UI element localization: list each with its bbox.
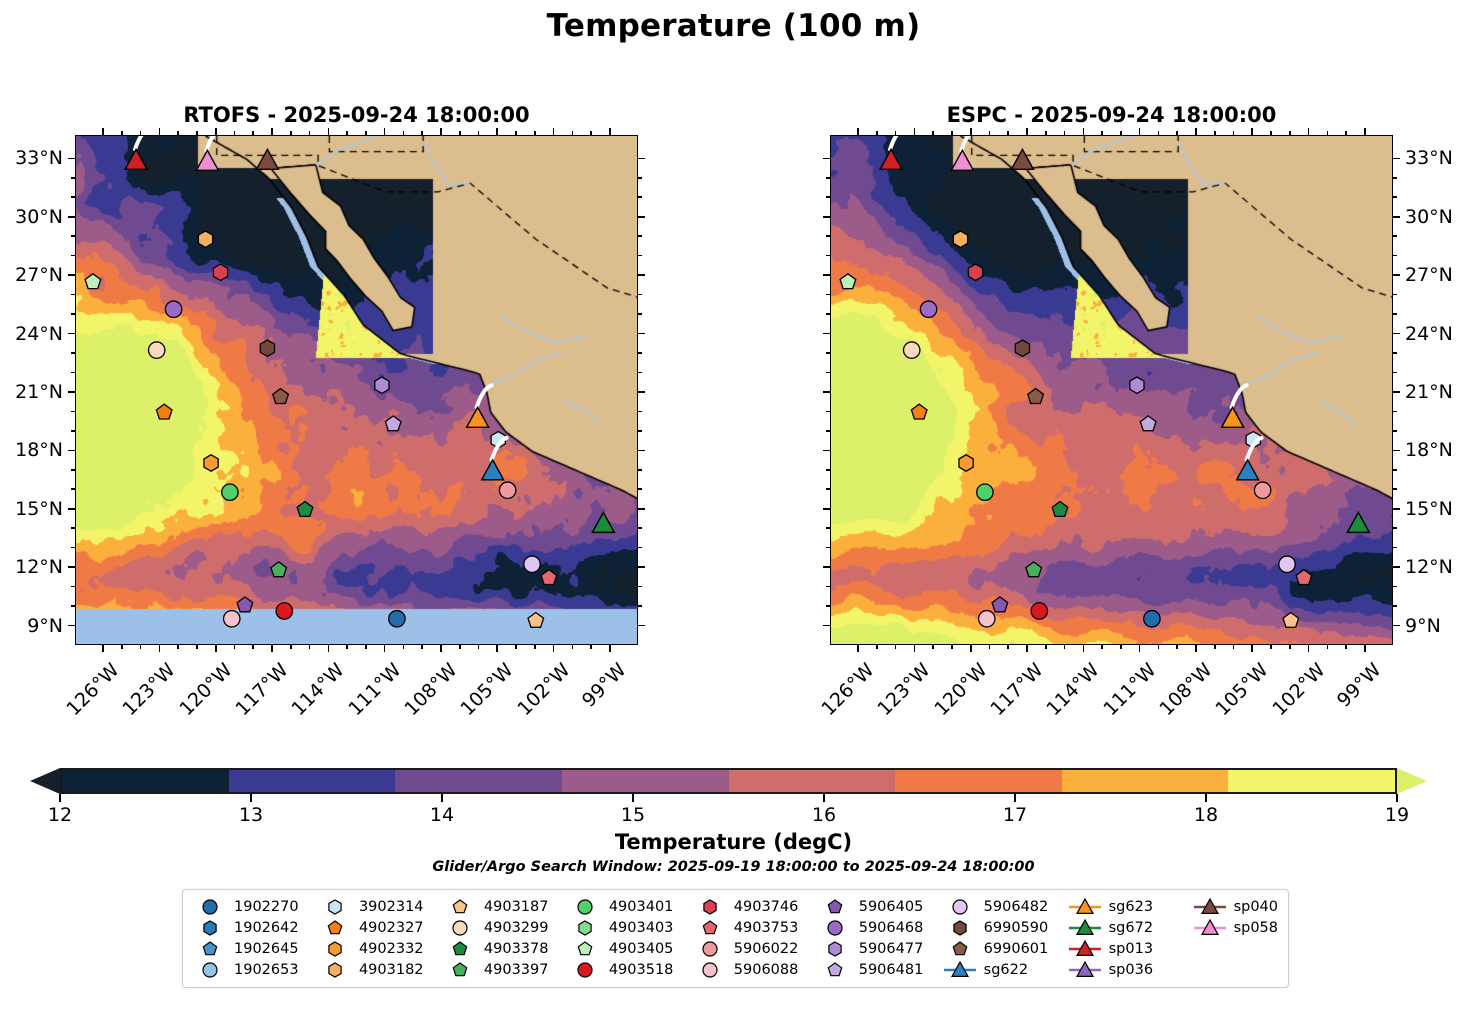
ytick-major-right xyxy=(1393,274,1400,276)
platform-marker-5906468[interactable] xyxy=(165,301,181,317)
platform-marker-6990601[interactable] xyxy=(273,389,289,404)
platform-marker-4903753[interactable] xyxy=(1296,570,1312,585)
ytick-label-left: 27°N xyxy=(5,264,63,286)
legend-swatch xyxy=(443,939,477,959)
xtick-minor xyxy=(1101,645,1103,649)
ytick-minor-right xyxy=(638,294,642,296)
legend-entry-sg622[interactable]: sg622 xyxy=(943,959,1068,980)
ytick-minor-left xyxy=(71,352,75,354)
legend-entry-4903403[interactable]: 4903403 xyxy=(568,918,693,939)
legend-entry-sp036[interactable]: sp036 xyxy=(1068,959,1193,980)
ytick-major-right xyxy=(638,566,645,568)
legend-label: 4903187 xyxy=(484,899,549,915)
xtick-minor-top xyxy=(1101,131,1103,135)
legend-label: 4903518 xyxy=(609,962,674,978)
platform-marker-6990590[interactable] xyxy=(1015,340,1029,356)
xtick-major xyxy=(384,645,386,652)
ytick-major-right xyxy=(1393,450,1400,452)
legend-entry-4903753[interactable]: 4903753 xyxy=(693,918,818,939)
ytick-label-right: 18°N xyxy=(1405,439,1467,461)
legend-entry-sp040[interactable]: sp040 xyxy=(1193,897,1278,918)
xtick-major xyxy=(970,645,972,652)
xtick-major-top xyxy=(328,128,330,135)
legend-swatch xyxy=(568,939,602,959)
colorbar-tick xyxy=(632,794,633,802)
legend-marker-4903753 xyxy=(693,918,727,938)
xtick-major xyxy=(496,645,498,652)
xtick-minor-top xyxy=(1345,131,1347,135)
platform-marker-5906088[interactable] xyxy=(224,611,240,627)
xtick-major xyxy=(1364,645,1366,652)
xtick-minor xyxy=(515,645,517,649)
legend-swatch xyxy=(193,960,227,980)
ytick-minor-right xyxy=(1393,411,1397,413)
xtick-minor xyxy=(1233,645,1235,649)
legend-swatch xyxy=(443,918,477,938)
legend-entry-4903378[interactable]: 4903378 xyxy=(443,939,568,960)
legend-label: sp058 xyxy=(1234,920,1278,936)
platform-marker-5906477[interactable] xyxy=(375,377,389,393)
ytick-label-left: 30°N xyxy=(5,206,63,228)
ytick-minor-right xyxy=(638,469,642,471)
legend-entry-4903518[interactable]: 4903518 xyxy=(568,959,693,980)
legend-entry-1902270[interactable]: 1902270 xyxy=(193,897,318,918)
xtick-minor-top xyxy=(989,131,991,135)
ytick-minor-right xyxy=(638,411,642,413)
legend-entry-4902327[interactable]: 4902327 xyxy=(318,918,443,939)
legend-label: 5906022 xyxy=(734,941,799,957)
xtick-minor-top xyxy=(932,131,934,135)
platform-marker-sg623[interactable] xyxy=(1222,385,1247,427)
legend-marker-5906481 xyxy=(818,960,852,980)
legend-marker-sp040 xyxy=(1193,897,1227,917)
platform-marker-5906481[interactable] xyxy=(1140,416,1156,431)
legend-marker-4903405 xyxy=(568,939,602,959)
xtick-minor-top xyxy=(1007,131,1009,135)
xtick-label: 120°W xyxy=(930,659,991,720)
ytick-minor-left xyxy=(71,372,75,374)
xtick-minor-top xyxy=(1045,131,1047,135)
colorbar-tick-label: 15 xyxy=(621,804,645,826)
ytick-major-left xyxy=(68,216,75,218)
platform-marker-5906022[interactable] xyxy=(499,482,515,498)
platform-marker-sp040[interactable] xyxy=(256,149,278,169)
platform-marker-4903299[interactable] xyxy=(148,342,164,358)
xtick-major-top xyxy=(553,128,555,135)
ytick-minor-left xyxy=(826,547,830,549)
legend-marker-4903401 xyxy=(568,897,602,917)
ytick-major-right xyxy=(638,274,645,276)
ytick-major-left xyxy=(823,508,830,510)
legend-swatch xyxy=(193,918,227,938)
ytick-minor-left xyxy=(826,469,830,471)
ytick-minor-left xyxy=(71,235,75,237)
ytick-minor-left xyxy=(826,177,830,179)
platform-marker-4903746[interactable] xyxy=(968,264,982,280)
legend-entry-6990601[interactable]: 6990601 xyxy=(943,939,1068,960)
legend-marker-sp058 xyxy=(1193,918,1227,938)
ytick-major-left xyxy=(68,625,75,627)
xtick-minor-top xyxy=(140,131,142,135)
legend-label: 6990601 xyxy=(984,941,1049,957)
colorbar-segment-3 xyxy=(562,770,729,792)
legend-marker-1902645 xyxy=(193,939,227,959)
legend-swatch xyxy=(568,897,602,917)
ytick-label-left: 9°N xyxy=(5,615,63,637)
colorbar-gradient xyxy=(60,768,1397,794)
platform-marker-5906405[interactable] xyxy=(992,597,1008,612)
legend-entry-sg672[interactable]: sg672 xyxy=(1068,918,1193,939)
legend-entry-5906481[interactable]: 5906481 xyxy=(818,959,943,980)
ytick-minor-left xyxy=(826,605,830,607)
xtick-label: 120°W xyxy=(175,659,236,720)
xtick-label: 108°W xyxy=(400,659,461,720)
ytick-minor-right xyxy=(1393,294,1397,296)
ytick-minor-right xyxy=(1393,196,1397,198)
ytick-minor-right xyxy=(638,605,642,607)
ytick-major-left xyxy=(823,274,830,276)
legend-swatch xyxy=(443,960,477,980)
ytick-major-left xyxy=(823,216,830,218)
xtick-label: 114°W xyxy=(288,659,349,720)
legend-entry-4903299[interactable]: 4903299 xyxy=(443,918,568,939)
xtick-minor-top xyxy=(234,131,236,135)
xtick-major xyxy=(440,645,442,652)
ytick-label-right: 24°N xyxy=(1405,323,1467,345)
platform-marker-4903405[interactable] xyxy=(840,274,856,289)
platform-marker-4903753[interactable] xyxy=(541,570,557,585)
xtick-minor xyxy=(1120,645,1122,649)
ytick-major-left xyxy=(823,450,830,452)
ytick-major-right xyxy=(638,625,645,627)
xtick-major xyxy=(609,645,611,652)
ytick-minor-right xyxy=(638,255,642,257)
xtick-minor xyxy=(590,645,592,649)
legend-marker-4902327 xyxy=(318,918,352,938)
ytick-major-right xyxy=(1393,508,1400,510)
legend-swatch xyxy=(1193,918,1227,938)
colorbar-tick xyxy=(1396,794,1397,802)
xtick-minor xyxy=(932,645,934,649)
legend-marker-4903746 xyxy=(693,897,727,917)
xtick-minor-top xyxy=(346,131,348,135)
ytick-minor-right xyxy=(638,352,642,354)
platform-marker-sg672[interactable] xyxy=(1347,512,1369,532)
platform-marker-4903405[interactable] xyxy=(85,274,101,289)
legend-entry-4903401[interactable]: 4903401 xyxy=(568,897,693,918)
ytick-minor-left xyxy=(826,527,830,529)
ytick-major-right xyxy=(1393,216,1400,218)
ytick-minor-right xyxy=(1393,488,1397,490)
legend-swatch xyxy=(818,939,852,959)
xtick-major-top xyxy=(271,128,273,135)
ytick-minor-left xyxy=(826,235,830,237)
search-window-note: Glider/Argo Search Window: 2025-09-19 18… xyxy=(0,859,1467,875)
legend-entry-6990590[interactable]: 6990590 xyxy=(943,918,1068,939)
colorbar-tick-label: 14 xyxy=(430,804,454,826)
ytick-label-left: 12°N xyxy=(5,556,63,578)
colorbar-tick xyxy=(1205,794,1206,802)
xtick-minor-top xyxy=(177,131,179,135)
platform-marker-5906022[interactable] xyxy=(1254,482,1270,498)
legend-swatch xyxy=(943,897,977,917)
ytick-minor-left xyxy=(826,255,830,257)
legend-entry-4903187[interactable]: 4903187 xyxy=(443,897,568,918)
xtick-minor-top xyxy=(951,131,953,135)
platform-marker-4903518[interactable] xyxy=(276,603,292,619)
legend-swatch xyxy=(1068,918,1102,938)
legend-label: 5906477 xyxy=(859,941,924,957)
ytick-minor-left xyxy=(826,488,830,490)
xtick-minor-top xyxy=(590,131,592,135)
ytick-major-left xyxy=(68,566,75,568)
legend-marker-sg622 xyxy=(943,960,977,980)
legend-swatch xyxy=(818,918,852,938)
ytick-minor-left xyxy=(71,605,75,607)
xtick-minor xyxy=(478,645,480,649)
platform-marker-4903378[interactable] xyxy=(1052,502,1068,517)
platform-marker-4903299[interactable] xyxy=(903,342,919,358)
colorbar-tick-label: 16 xyxy=(812,804,836,826)
legend-swatch xyxy=(318,939,352,959)
legend-entry-4902332[interactable]: 4902332 xyxy=(318,939,443,960)
legend-label: 5906088 xyxy=(734,962,799,978)
ytick-minor-right xyxy=(638,313,642,315)
platform-marker-5906405[interactable] xyxy=(237,597,253,612)
xtick-minor xyxy=(572,645,574,649)
ytick-major-left xyxy=(823,391,830,393)
ytick-minor-left xyxy=(71,177,75,179)
platform-marker-4902332[interactable] xyxy=(204,455,218,471)
legend-marker-4903397 xyxy=(443,960,477,980)
legend-label: 4903401 xyxy=(609,899,674,915)
platform-marker-5906468[interactable] xyxy=(920,301,936,317)
ytick-major-right xyxy=(638,216,645,218)
legend-entry-sg623[interactable]: sg623 xyxy=(1068,897,1193,918)
legend-entry-4903182[interactable]: 4903182 xyxy=(318,959,443,980)
platform-marker-6990590[interactable] xyxy=(260,340,274,356)
legend-entry-1902642[interactable]: 1902642 xyxy=(193,918,318,939)
xtick-minor-top xyxy=(365,131,367,135)
legend-entry-1902653[interactable]: 1902653 xyxy=(193,959,318,980)
xtick-major-top xyxy=(440,128,442,135)
xtick-major-top xyxy=(609,128,611,135)
legend-label: sg672 xyxy=(1109,920,1153,936)
legend-marker-3902314 xyxy=(318,897,352,917)
colorbar-tick xyxy=(1014,794,1015,802)
ytick-label-right: 12°N xyxy=(1405,556,1467,578)
colorbar-tick-label: 17 xyxy=(1003,804,1027,826)
xtick-minor-top xyxy=(1270,131,1272,135)
legend-marker-6990590 xyxy=(943,918,977,938)
legend-marker-4903187 xyxy=(443,897,477,917)
platform-marker-sp013[interactable] xyxy=(880,135,905,169)
legend-swatch xyxy=(818,960,852,980)
legend-label: 4903746 xyxy=(734,899,799,915)
xtick-major-top xyxy=(1195,128,1197,135)
xtick-major-top xyxy=(1308,128,1310,135)
colorbar-extend-max xyxy=(1397,768,1427,794)
xtick-major xyxy=(1251,645,1253,652)
xtick-minor-top xyxy=(1327,131,1329,135)
platform-marker-sp058[interactable] xyxy=(951,135,976,170)
legend-marker-4903403 xyxy=(568,918,602,938)
legend-label: 4903397 xyxy=(484,962,549,978)
xtick-label: 102°W xyxy=(1268,659,1329,720)
platform-marker-sg623[interactable] xyxy=(467,385,492,427)
legend-entry-4903397[interactable]: 4903397 xyxy=(443,959,568,980)
platform-marker-sp040[interactable] xyxy=(1011,149,1033,169)
platform-marker-5906477[interactable] xyxy=(1130,377,1144,393)
xtick-major-top xyxy=(1083,128,1085,135)
ytick-minor-left xyxy=(71,411,75,413)
legend-entry-4903746[interactable]: 4903746 xyxy=(693,897,818,918)
ytick-minor-left xyxy=(71,313,75,315)
xtick-minor xyxy=(1214,645,1216,649)
xtick-minor xyxy=(534,645,536,649)
colorbar[interactable]: 1213141516171819 Temperature (degC) Glid… xyxy=(0,760,1467,870)
platform-marker-4903401[interactable] xyxy=(977,484,993,500)
xtick-major-top xyxy=(1026,128,1028,135)
ytick-major-right xyxy=(638,450,645,452)
xtick-major xyxy=(1195,645,1197,652)
ytick-major-left xyxy=(68,508,75,510)
platform-marker-4903401[interactable] xyxy=(222,484,238,500)
platform-marker-5906482[interactable] xyxy=(524,556,540,572)
platform-marker-5906088[interactable] xyxy=(979,611,995,627)
legend-entry-5906088[interactable]: 5906088 xyxy=(693,959,818,980)
legend-entry-4903405[interactable]: 4903405 xyxy=(568,939,693,960)
colorbar-segment-0 xyxy=(62,770,229,792)
ytick-major-right xyxy=(638,508,645,510)
platform-marker-4902332[interactable] xyxy=(959,455,973,471)
legend-entry-5906468[interactable]: 5906468 xyxy=(818,918,943,939)
ytick-major-left xyxy=(823,566,830,568)
platform-marker-5906481[interactable] xyxy=(385,416,401,431)
xtick-major-top xyxy=(857,128,859,135)
legend-entry-sp058[interactable]: sp058 xyxy=(1193,918,1278,939)
platform-marker-4903378[interactable] xyxy=(297,502,313,517)
platform-marker-1902270[interactable] xyxy=(1144,611,1160,627)
ytick-minor-right xyxy=(638,196,642,198)
legend-label: 4903753 xyxy=(734,920,799,936)
legend-label: 4903378 xyxy=(484,941,549,957)
legend-swatch xyxy=(318,918,352,938)
xtick-minor-top xyxy=(309,131,311,135)
legend-marker-5906477 xyxy=(818,939,852,959)
xtick-label: 117°W xyxy=(986,659,1047,720)
platform-marker-4903187[interactable] xyxy=(1283,613,1299,628)
xtick-minor xyxy=(1327,645,1329,649)
platform-marker-4903746[interactable] xyxy=(213,264,227,280)
ytick-minor-right xyxy=(638,488,642,490)
ytick-minor-right xyxy=(1393,313,1397,315)
xtick-major-top xyxy=(215,128,217,135)
legend-entry-5906022[interactable]: 5906022 xyxy=(693,939,818,960)
legend-marker-4903518 xyxy=(568,960,602,980)
platform-marker-6990601[interactable] xyxy=(1028,389,1044,404)
legend-entry-5906405[interactable]: 5906405 xyxy=(818,897,943,918)
ytick-minor-left xyxy=(826,430,830,432)
xtick-minor xyxy=(1045,645,1047,649)
platform-marker-4902327[interactable] xyxy=(156,404,172,419)
legend-entry-5906482[interactable]: 5906482 xyxy=(943,897,1068,918)
platform-marker-4903182[interactable] xyxy=(953,231,967,247)
xtick-minor-top xyxy=(252,131,254,135)
platform-marker-sg672[interactable] xyxy=(592,512,614,532)
xtick-minor xyxy=(140,645,142,649)
ytick-minor-right xyxy=(638,235,642,237)
ytick-minor-right xyxy=(638,177,642,179)
platform-marker-5906482[interactable] xyxy=(1279,556,1295,572)
platform-marker-4903397[interactable] xyxy=(1026,562,1042,577)
legend-entry-3902314[interactable]: 3902314 xyxy=(318,897,443,918)
legend-swatch xyxy=(443,897,477,917)
xtick-minor-top xyxy=(534,131,536,135)
ytick-label-right: 9°N xyxy=(1405,615,1467,637)
legend-marker-1902642 xyxy=(193,918,227,938)
xtick-major xyxy=(553,645,555,652)
platform-marker-4903182[interactable] xyxy=(198,231,212,247)
legend-label: 4903299 xyxy=(484,920,549,936)
legend-swatch xyxy=(568,918,602,938)
xtick-minor xyxy=(895,645,897,649)
legend-marker-4903299 xyxy=(443,918,477,938)
legend-entry-1902645[interactable]: 1902645 xyxy=(193,939,318,960)
colorbar-tick-label: 18 xyxy=(1194,804,1218,826)
xtick-minor xyxy=(1289,645,1291,649)
ytick-major-right xyxy=(638,333,645,335)
xtick-label: 111°W xyxy=(1099,659,1160,720)
ytick-minor-right xyxy=(638,547,642,549)
colorbar-tick xyxy=(250,794,251,802)
legend-marker-4903182 xyxy=(318,960,352,980)
platform-marker-4903518[interactable] xyxy=(1031,603,1047,619)
platform-marker-4903187[interactable] xyxy=(528,613,544,628)
map-canvas-espc[interactable] xyxy=(830,135,1393,645)
ytick-minor-right xyxy=(1393,372,1397,374)
legend-entry-sp013[interactable]: sp013 xyxy=(1068,939,1193,960)
platform-marker-sp013[interactable] xyxy=(125,135,150,169)
ytick-major-right xyxy=(1393,625,1400,627)
legend-swatch xyxy=(318,897,352,917)
legend-label: 4902327 xyxy=(359,920,424,936)
xtick-minor xyxy=(196,645,198,649)
xtick-major xyxy=(159,645,161,652)
ytick-major-left xyxy=(68,333,75,335)
legend-label: 5906468 xyxy=(859,920,924,936)
ytick-minor-left xyxy=(826,313,830,315)
platform-marker-1902270[interactable] xyxy=(389,611,405,627)
xtick-major-top xyxy=(496,128,498,135)
colorbar-segment-4 xyxy=(729,770,896,792)
xtick-major-top xyxy=(970,128,972,135)
platform-marker-4903397[interactable] xyxy=(271,562,287,577)
platform-marker-4902327[interactable] xyxy=(911,404,927,419)
xtick-label: 123°W xyxy=(119,659,180,720)
legend-marker-sp036 xyxy=(1068,960,1102,980)
ytick-label-left: 24°N xyxy=(5,323,63,345)
legend-label: 4903182 xyxy=(359,962,424,978)
legend-marker-1902270 xyxy=(193,897,227,917)
ytick-label-right: 27°N xyxy=(1405,264,1467,286)
map-canvas-rtofs[interactable] xyxy=(75,135,638,645)
legend-marker-5906022 xyxy=(693,939,727,959)
platform-marker-sp058[interactable] xyxy=(196,135,221,170)
xtick-minor-top xyxy=(1214,131,1216,135)
legend-entry-5906477[interactable]: 5906477 xyxy=(818,939,943,960)
ytick-minor-right xyxy=(1393,586,1397,588)
